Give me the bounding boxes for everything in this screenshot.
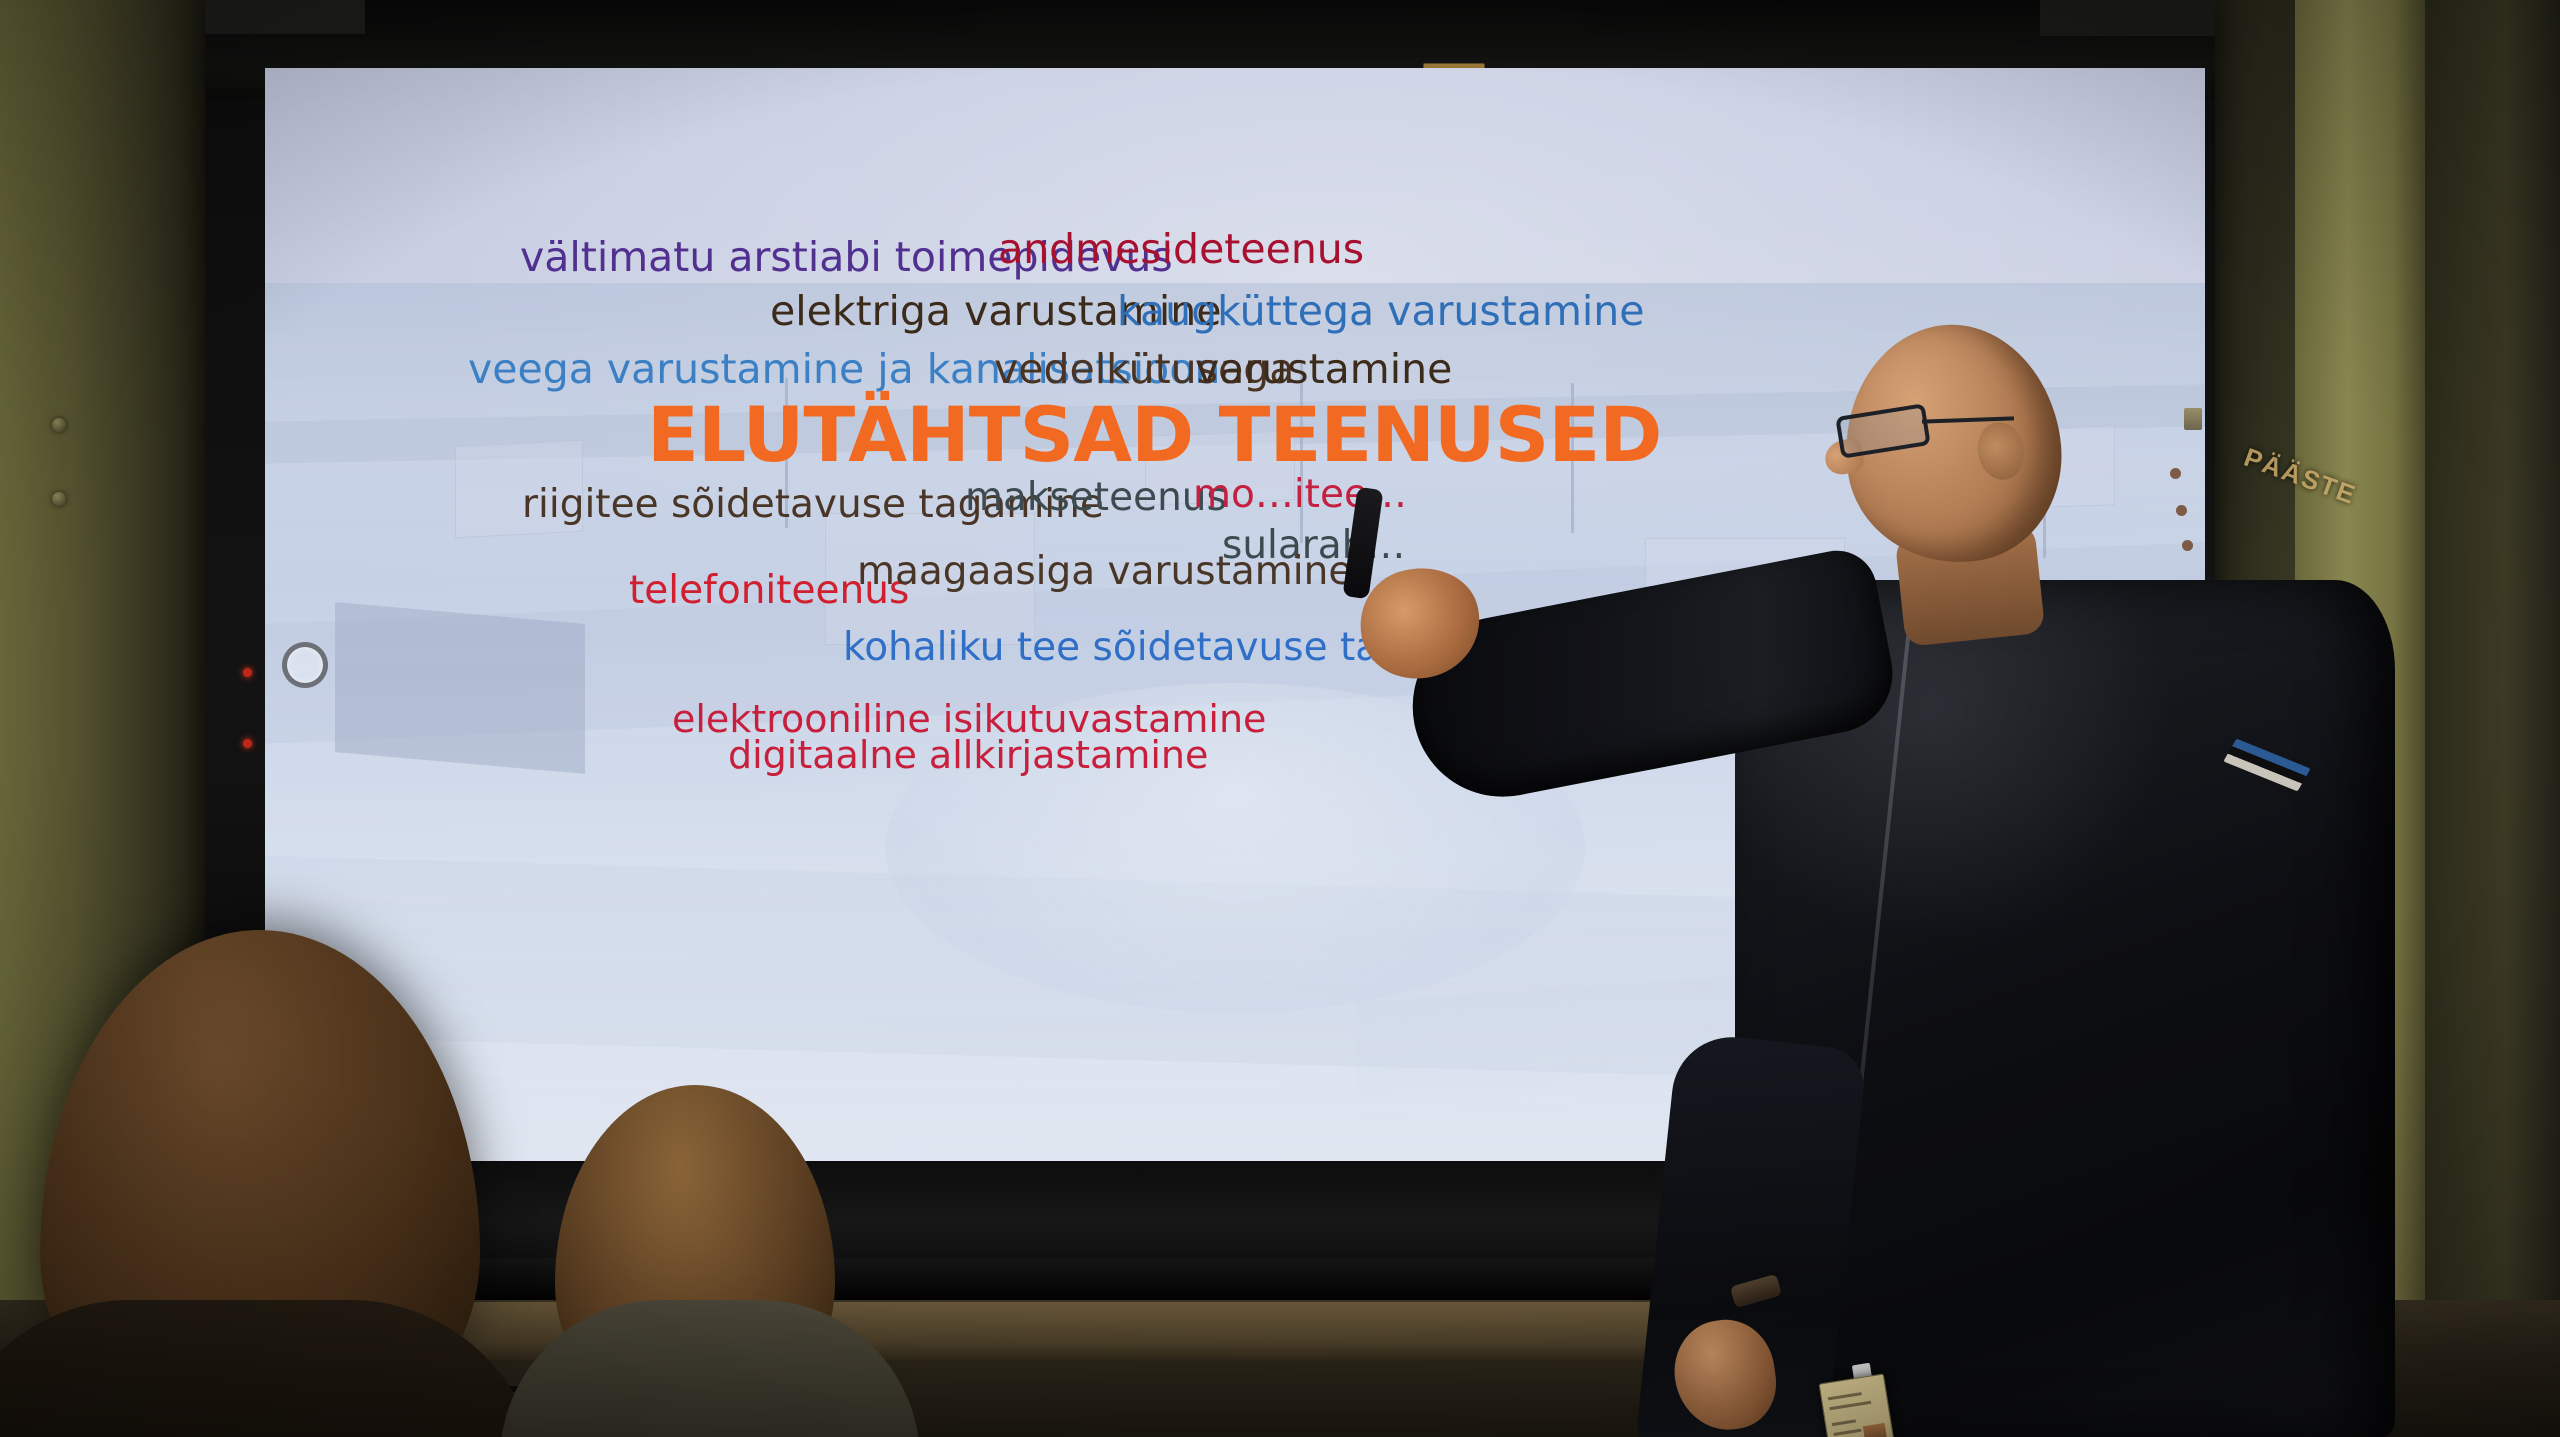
jacket-button [2176, 505, 2187, 516]
bezel-corner-left [205, 0, 365, 34]
wall-hook-icon [52, 492, 66, 506]
word-cloud-item: makseteenus [965, 475, 1227, 520]
id-badge-photo [1863, 1423, 1889, 1437]
presenter: PÄÄSTE [1470, 300, 2560, 1437]
photo-scene: MONITOR vältimatu arstiabi toimepidevus … [0, 0, 2560, 1437]
jacket-badge [2184, 408, 2202, 430]
jacket-button [2182, 540, 2193, 551]
bezel-corner-right [2040, 0, 2215, 36]
word-cloud-item: andmesideteenus [998, 225, 1364, 273]
jacket-button [2170, 468, 2181, 479]
word-cloud-item: digitaalne allkirjastamine [728, 733, 1208, 777]
wall-hook-icon [52, 418, 66, 432]
word-cloud-item: maagaasiga varustamine [857, 549, 1352, 594]
jacket-text-paaste: PÄÄSTE [2240, 442, 2410, 529]
screen-power-button[interactable] [282, 642, 328, 688]
word-cloud-item: varustamine [1195, 345, 1452, 393]
status-led-indicator [243, 668, 252, 677]
status-led-indicator [243, 739, 252, 748]
